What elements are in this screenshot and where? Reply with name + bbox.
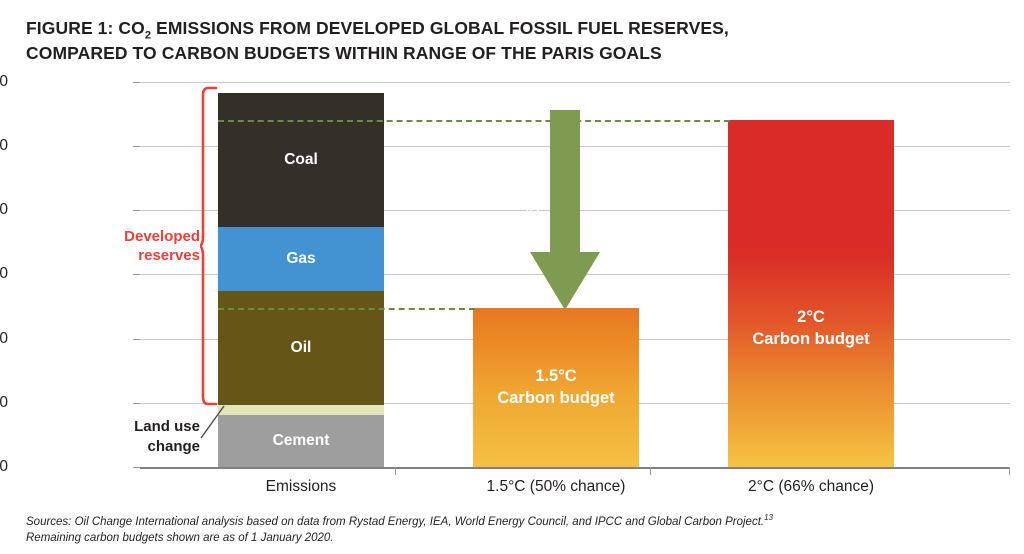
sources-footnote-marker: 13 <box>764 513 773 522</box>
bar-segment-cement-label: Cement <box>273 432 330 450</box>
developed-reserves-line1: Developed <box>108 228 200 247</box>
bar-segment-gas[interactable]: Gas <box>218 227 384 291</box>
developed-reserves-line2: reserves <box>108 247 200 266</box>
bar-segment-land-use-change[interactable] <box>218 405 384 415</box>
sources-line2: Remaining carbon budgets shown are as of… <box>26 532 334 544</box>
bar-segment-cement[interactable]: Cement <box>218 415 384 467</box>
developed-reserves-bracket <box>200 86 220 411</box>
y-tick-label-200: 200 <box>0 394 8 412</box>
y-tick-mark-400 <box>133 339 140 340</box>
land-use-change-label: Land use change <box>80 417 200 456</box>
x-tick-mark-3 <box>1009 467 1010 475</box>
y-tick-mark-600 <box>133 274 140 275</box>
gridline-1200 <box>140 82 1010 83</box>
bar-segment-gas-label: Gas <box>286 250 315 268</box>
x-tick-label-2c: 2°C (66% chance) <box>748 478 874 496</box>
x-tick-mark-2 <box>650 467 651 475</box>
land-use-change-line1: Land use <box>80 417 200 437</box>
bar-segment-coal[interactable]: Coal <box>218 93 384 227</box>
land-use-change-line2: change <box>80 437 200 457</box>
developed-reserves-label: Developed reserves <box>108 228 200 266</box>
land-use-change-leader-line <box>200 404 226 445</box>
y-tick-mark-800 <box>133 210 140 211</box>
bar-budget-2c[interactable]: 2°C Carbon budget <box>728 120 894 467</box>
bar-budget-1-5c[interactable]: 1.5°C Carbon budget <box>473 308 639 467</box>
x-axis-line <box>140 467 1010 469</box>
y-tick-label-1000: 1000 <box>0 137 8 155</box>
sources-line1: Sources: Oil Change International analys… <box>26 516 764 528</box>
bar-budget-1-5c-label-line2: Carbon budget <box>497 388 614 409</box>
y-tick-label-800: 800 <box>0 201 8 219</box>
y-tick-label-1200: 1200 <box>0 73 8 91</box>
bar-segment-coal-label: Coal <box>284 151 318 169</box>
x-tick-mark-1 <box>395 467 396 475</box>
y-tick-label-400: 400 <box>0 330 8 348</box>
y-tick-label-0: 0 <box>0 458 8 476</box>
bar-budget-2c-label-line1: 2°C <box>752 307 869 328</box>
y-tick-mark-0 <box>133 467 140 468</box>
sources-footnote: Sources: Oil Change International analys… <box>26 512 1001 546</box>
chart-container: Gt CO2 1200 1000 800 600 400 200 0 Coal … <box>0 0 1024 500</box>
y-tick-label-600: 600 <box>0 265 8 283</box>
y-tick-mark-1000 <box>133 146 140 147</box>
reference-line-1-5c-budget <box>218 308 475 310</box>
paris-goals-arrow-label: Paris goals <box>525 163 543 248</box>
x-tick-label-1-5c: 1.5°C (50% chance) <box>487 478 626 496</box>
y-tick-mark-200 <box>133 403 140 404</box>
reference-line-2c-budget <box>218 120 730 122</box>
bar-budget-2c-label-line2: Carbon budget <box>752 329 869 350</box>
y-tick-mark-1200 <box>133 82 140 83</box>
bar-budget-1-5c-label-line1: 1.5°C <box>497 366 614 387</box>
bar-segment-oil-label: Oil <box>291 339 312 357</box>
x-tick-label-emissions: Emissions <box>266 478 337 496</box>
